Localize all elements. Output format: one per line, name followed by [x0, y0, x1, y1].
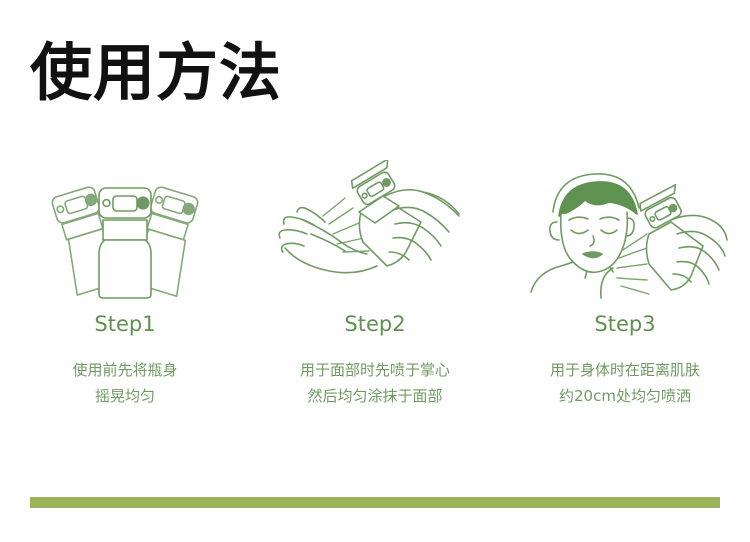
- step-1-label: Step1: [94, 311, 155, 337]
- step-2-label: Step2: [344, 311, 405, 337]
- step-1-illustration: [20, 160, 230, 305]
- footer-decorative-bar: [30, 497, 720, 508]
- step-2-illustration: [270, 160, 480, 305]
- spray-onto-body-woman-icon: [523, 160, 728, 305]
- usage-instructions-page: 使用方法: [0, 0, 750, 542]
- step-item-3: Step3 用于身体时在距离肌肤 约20cm处均匀喷洒: [500, 160, 750, 409]
- step-3-illustration: [520, 160, 730, 305]
- shaking-spray-bottle-icon: [25, 160, 225, 305]
- step-2-description: 用于面部时先喷于掌心 然后均匀涂抹于面部: [300, 357, 450, 409]
- page-title: 使用方法: [30, 38, 282, 108]
- spray-onto-palm-icon: [273, 160, 478, 305]
- step-3-label: Step3: [594, 311, 655, 337]
- steps-row: Step1 使用前先将瓶身 摇晃均匀: [0, 160, 750, 409]
- step-1-description: 使用前先将瓶身 摇晃均匀: [72, 357, 177, 409]
- step-item-1: Step1 使用前先将瓶身 摇晃均匀: [0, 160, 250, 409]
- step-item-2: Step2 用于面部时先喷于掌心 然后均匀涂抹于面部: [250, 160, 500, 409]
- step-3-description: 用于身体时在距离肌肤 约20cm处均匀喷洒: [550, 357, 700, 409]
